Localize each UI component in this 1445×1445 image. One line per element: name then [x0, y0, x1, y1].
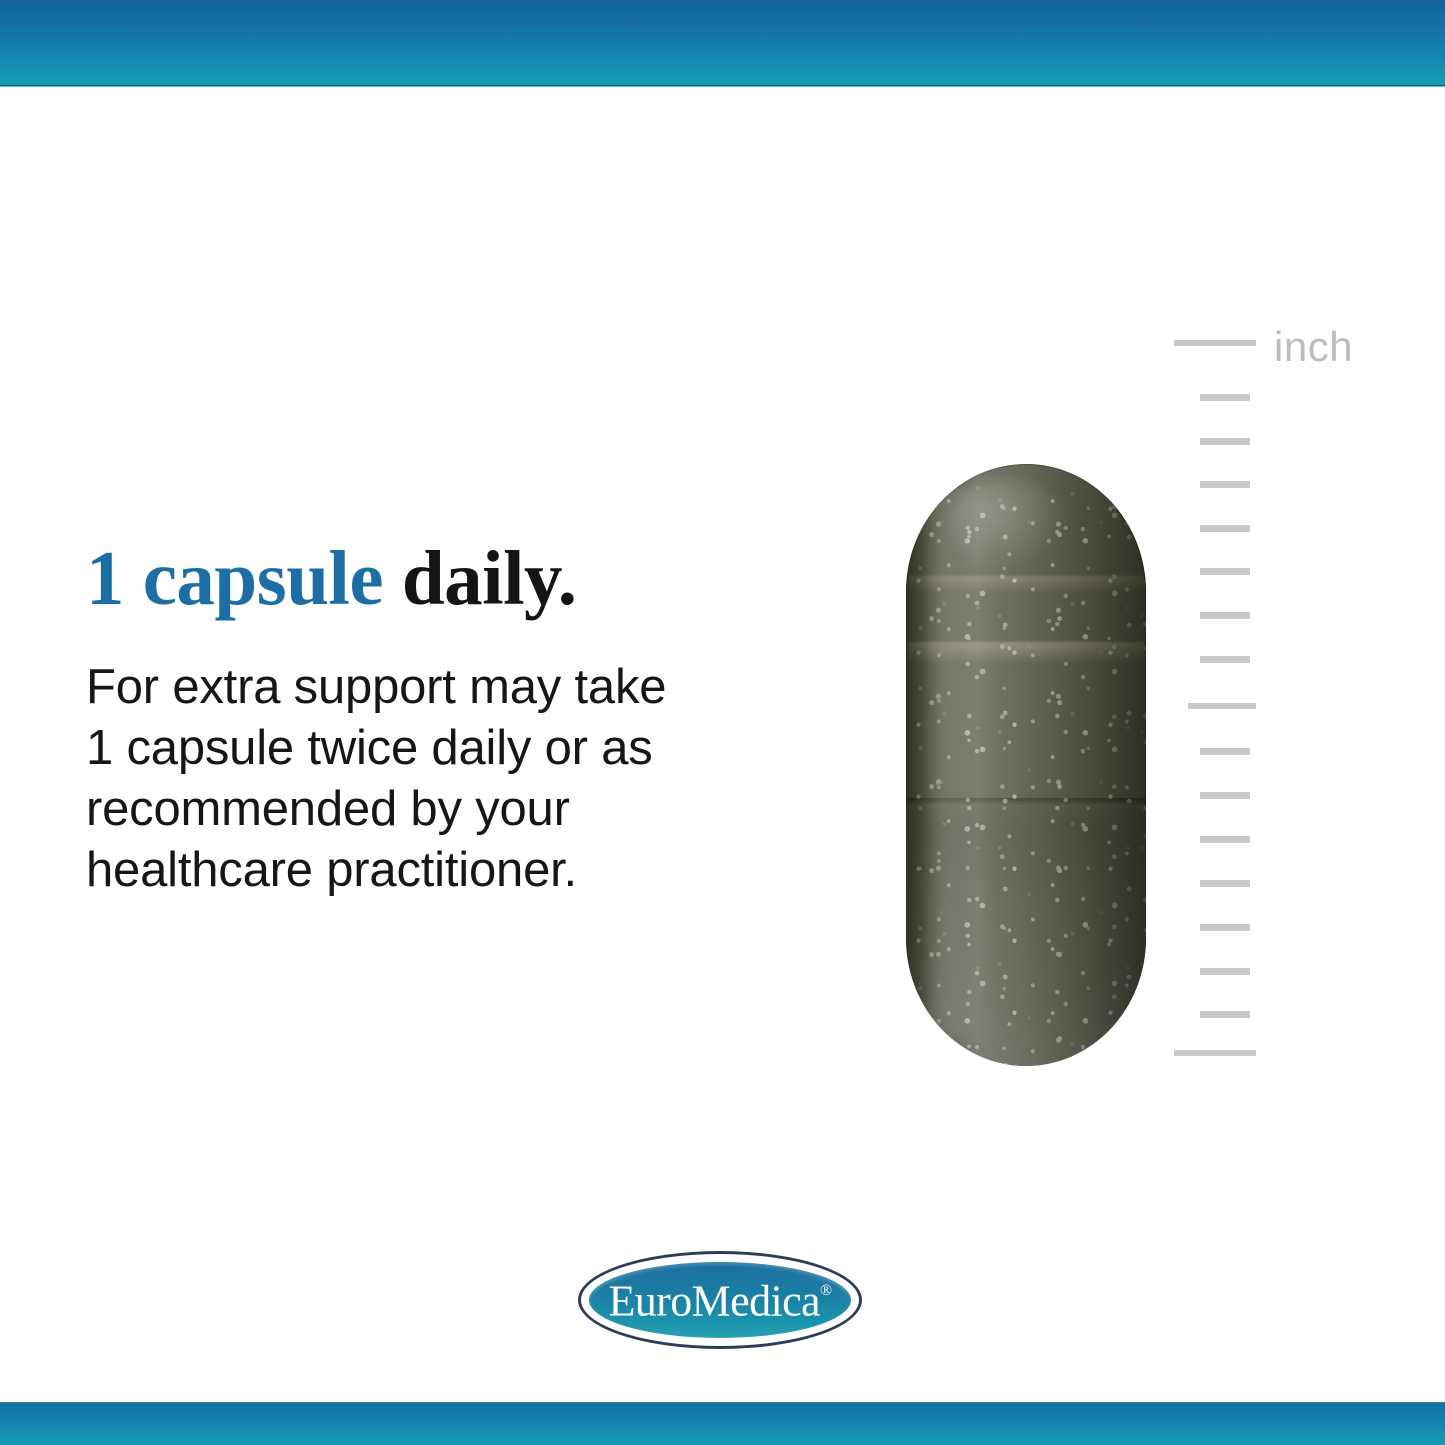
- ruler-tick-major: [1174, 340, 1256, 346]
- ruler-tick-minor: [1200, 525, 1250, 532]
- dosage-line-1: For extra support may take: [86, 657, 746, 718]
- logo-oval: EuroMedica®: [589, 1262, 851, 1338]
- logo-brand-name: EuroMedica: [608, 1277, 819, 1326]
- logo-outer-ring: EuroMedica®: [578, 1251, 862, 1349]
- ruler-tick-minor: [1200, 880, 1250, 887]
- capsule-shape: [906, 464, 1146, 1066]
- ruler-tick-minor: [1200, 481, 1250, 488]
- logo-wordmark: EuroMedica®: [608, 1274, 831, 1324]
- capsule-photo: [906, 464, 1146, 1066]
- bottom-blue-band: [0, 1403, 1445, 1445]
- top-blue-band: [0, 0, 1445, 85]
- dosage-line-3: recommended by your: [86, 779, 746, 840]
- ruler-tick-minor: [1200, 1011, 1250, 1018]
- ruler-tick-minor: [1200, 438, 1250, 445]
- ruler-tick-major: [1188, 703, 1256, 709]
- ruler-tick-major: [1174, 1050, 1256, 1056]
- dosage-instructions: For extra support may take 1 capsule twi…: [86, 657, 746, 901]
- ruler-tick-minor: [1200, 968, 1250, 975]
- ruler-unit-label: inch: [1274, 326, 1353, 368]
- headline-accent-text: 1 capsule: [86, 535, 383, 621]
- ruler-tick-minor: [1200, 792, 1250, 799]
- ruler-tick-minor: [1200, 656, 1250, 663]
- capsule-dome-highlight: [948, 478, 1068, 574]
- dosage-line-4: healthcare practitioner.: [86, 840, 746, 901]
- ruler-tick-minor: [1200, 612, 1250, 619]
- ruler-tick-minor: [1200, 924, 1250, 931]
- dosage-line-2: 1 capsule twice daily or as: [86, 718, 746, 779]
- logo-inner-ring: EuroMedica®: [581, 1254, 859, 1346]
- euromedica-logo: EuroMedica®: [578, 1251, 862, 1349]
- logo-trademark-symbol: ®: [820, 1282, 832, 1299]
- dosage-copy-block: 1 capsule daily. For extra support may t…: [86, 540, 746, 901]
- ruler-tick-minor: [1200, 748, 1250, 755]
- inch-ruler: inch: [1174, 340, 1374, 1060]
- headline-plain-text: daily.: [383, 535, 576, 621]
- page-title: 1 capsule daily.: [86, 540, 746, 617]
- ruler-tick-minor: [1200, 836, 1250, 843]
- ruler-tick-minor: [1200, 568, 1250, 575]
- ruler-tick-minor: [1200, 394, 1250, 401]
